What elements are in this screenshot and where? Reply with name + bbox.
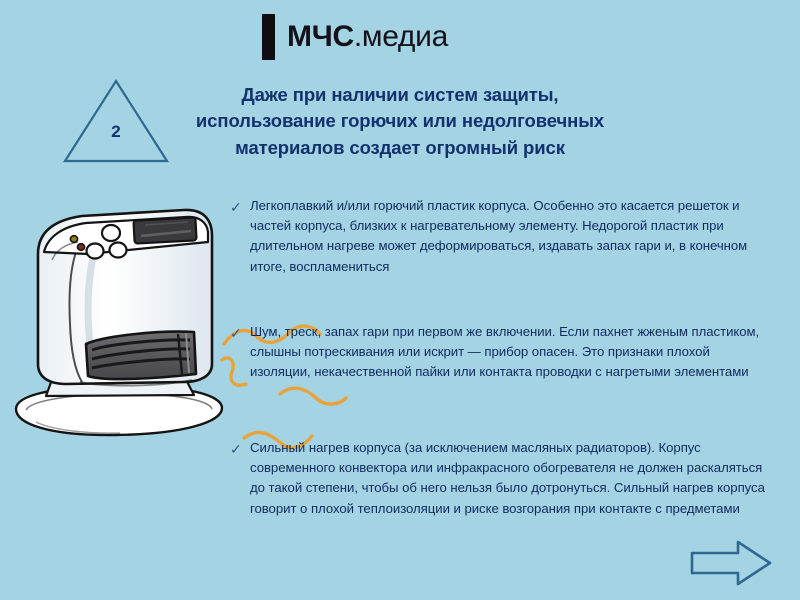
page-title-line-3: материалов создает огромный риск [168, 135, 632, 161]
logo-bold-text: МЧС [287, 20, 354, 53]
list-item: ✓ Легкоплавкий и/или горючий пластик кор… [230, 196, 770, 277]
logo-text: МЧС.медиа [287, 22, 448, 52]
list-item-text: Легкоплавкий и/или горючий пластик корпу… [250, 196, 770, 277]
list-item: ✓ Сильный нагрев корпуса (за исключением… [230, 438, 770, 519]
fan-heater-illustration [8, 196, 244, 456]
fan-heater-icon [8, 196, 244, 456]
arrow-right-icon[interactable] [688, 538, 774, 588]
logo-light-text: .медиа [354, 20, 448, 53]
next-slide-button[interactable] [688, 538, 774, 588]
list-item: ✓ Шум, треск, запах гари при первом же в… [230, 322, 770, 383]
check-icon: ✓ [230, 438, 250, 460]
page-title-line-1: Даже при наличии систем защиты, [168, 82, 632, 108]
step-number: 2 [60, 122, 172, 142]
brand-logo: МЧС.медиа [262, 14, 448, 60]
triangle-icon [60, 76, 172, 166]
list-item-text: Шум, треск, запах гари при первом же вкл… [250, 322, 770, 383]
page-title: Даже при наличии систем защиты, использо… [168, 82, 632, 161]
step-number-badge: 2 [60, 76, 172, 166]
check-icon: ✓ [230, 322, 250, 344]
slide-canvas: МЧС.медиа 2 Даже при наличии систем защи… [0, 0, 800, 600]
logo-bar-icon [262, 14, 275, 60]
list-item-text: Сильный нагрев корпуса (за исключением м… [250, 438, 770, 519]
page-title-line-2: использование горючих или недолговечных [168, 108, 632, 134]
check-icon: ✓ [230, 196, 250, 218]
